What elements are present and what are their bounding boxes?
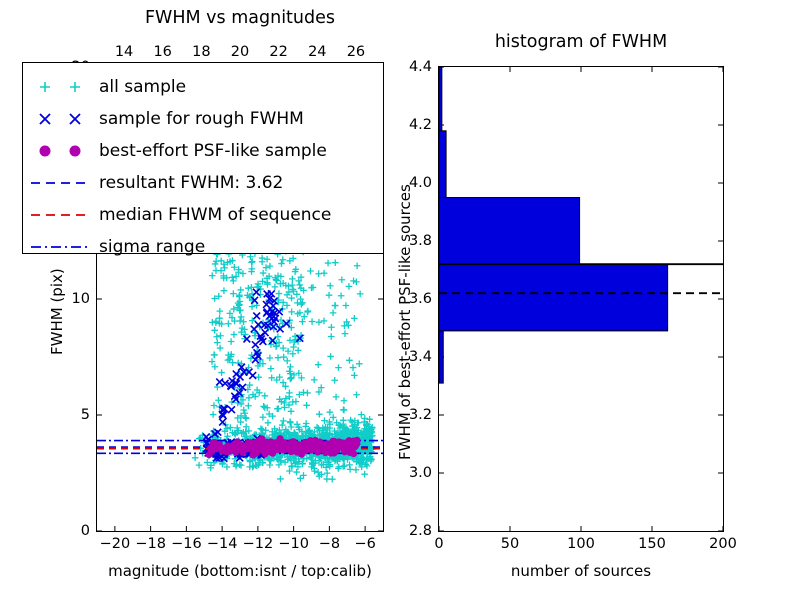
x-tick-label: −12: [243, 536, 274, 552]
legend-item-label: sample for rough FWHM: [99, 109, 304, 129]
x-top-tick-label: 14: [115, 44, 133, 60]
x-tick-label: −14: [207, 536, 238, 552]
dashed-line-icon: [23, 167, 99, 199]
legend-box: all samplesample for rough FWHMbest-effo…: [22, 62, 384, 254]
x-tick-label: 0: [434, 536, 443, 552]
legend-item-label: sigma range: [99, 237, 205, 257]
left-yaxis-label: FWHM (pix): [48, 268, 66, 355]
legend-item: median FHWM of sequence: [23, 199, 383, 231]
x-tick-label: 150: [638, 536, 666, 552]
y-tick-label: 4.2: [386, 117, 432, 133]
legend-item: best-effort PSF-like sample: [23, 135, 383, 167]
histogram-bar: [439, 331, 443, 383]
x-tick-label: −20: [100, 536, 131, 552]
legend-item: resultant FWHM: 3.62: [23, 167, 383, 199]
legend-item: sample for rough FWHM: [23, 103, 383, 135]
x-tick-label: 200: [709, 536, 737, 552]
x-top-tick-label: 26: [347, 44, 365, 60]
x-top-tick-label: 22: [269, 44, 287, 60]
legend-item-label: best-effort PSF-like sample: [99, 141, 327, 161]
left-xaxis-label: magnitude (bottom:isnt / top:calib): [108, 562, 372, 580]
x-top-tick-label: 16: [153, 44, 171, 60]
histogram-bar: [439, 198, 580, 265]
x-tick-label: 50: [501, 536, 519, 552]
y-tick-label: 4.4: [386, 59, 432, 75]
y-tick-label: 5: [48, 407, 90, 423]
x-top-tick-label: 20: [231, 44, 249, 60]
legend-item-label: median FHWM of sequence: [99, 205, 331, 225]
histogram-canvas: [439, 67, 723, 531]
y-tick-label: 0: [48, 523, 90, 539]
histogram-bar: [439, 264, 668, 331]
plus-icon: [23, 71, 99, 103]
y-tick-label: 2.8: [386, 523, 432, 539]
x-tick-label: −18: [135, 536, 166, 552]
legend-item: sigma range: [23, 231, 383, 263]
legend-item: all sample: [23, 71, 383, 103]
dashdot-line-icon: [23, 231, 99, 263]
x-tick-label: −16: [171, 536, 202, 552]
x-top-tick-label: 18: [192, 44, 210, 60]
histogram-bar: [439, 67, 442, 131]
right-yaxis-label: FWHM of best-effort PSF-like sources: [396, 184, 414, 460]
histogram-bar: [439, 131, 446, 198]
dot-icon: [23, 135, 99, 167]
histogram-axes: [438, 66, 724, 532]
figure-canvas: FWHM vs magnitudes 14161820222426 −20−18…: [0, 0, 800, 600]
x-top-tick-label: 24: [308, 44, 326, 60]
right-panel-title: histogram of FWHM: [495, 32, 667, 52]
y-tick-label: 3.0: [386, 465, 432, 481]
x-tick-label: −8: [319, 536, 340, 552]
cross-icon: [23, 103, 99, 135]
x-tick-label: −10: [278, 536, 309, 552]
right-xaxis-label: number of sources: [511, 562, 651, 580]
legend-item-label: all sample: [99, 77, 186, 97]
dashed-line-icon: [23, 199, 99, 231]
x-tick-label: −6: [354, 536, 375, 552]
x-tick-label: 100: [567, 536, 595, 552]
left-panel-title: FWHM vs magnitudes: [145, 8, 335, 28]
legend-item-label: resultant FWHM: 3.62: [99, 173, 283, 193]
